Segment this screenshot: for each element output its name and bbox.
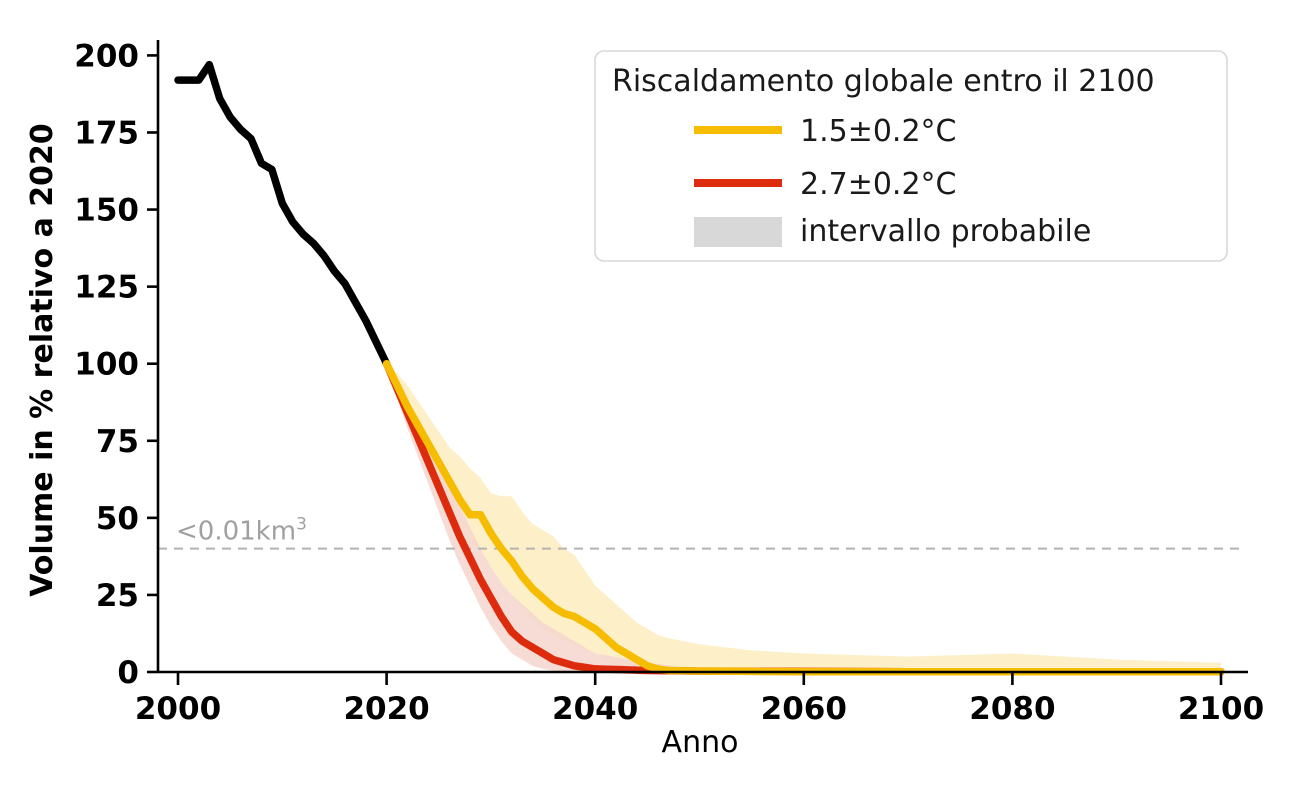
x-axis-title: Anno	[662, 725, 739, 760]
y-tick-label: 75	[96, 424, 139, 460]
legend-swatch-intervallo-probabile	[694, 217, 782, 247]
x-tick-label: 2100	[1178, 691, 1264, 727]
threshold-annotation-group: <0.01km3	[158, 515, 1240, 549]
legend-label-1p5-degrees: 1.5±0.2°C	[800, 114, 957, 149]
x-tick-label: 2040	[552, 691, 638, 727]
y-axis-ticks: 0255075100125150175200	[74, 38, 158, 691]
legend-label-intervallo-probabile: intervallo probabile	[800, 214, 1091, 249]
threshold-label: <0.01km3	[176, 515, 307, 547]
y-axis-title: Volume in % relativo a 2020	[25, 123, 60, 597]
y-tick-label: 200	[74, 38, 139, 74]
x-axis-ticks: 200020202040206020802100	[135, 672, 1264, 727]
x-tick-label: 2020	[343, 691, 429, 727]
x-tick-label: 2000	[135, 691, 221, 727]
y-tick-label: 100	[74, 347, 139, 383]
legend-title: Riscaldamento globale entro il 2100	[612, 64, 1155, 99]
y-tick-label: 0	[117, 655, 139, 691]
y-tick-label: 175	[74, 115, 139, 151]
chart-legend: Riscaldamento globale entro il 2100 1.5±…	[595, 51, 1227, 261]
x-tick-label: 2080	[969, 691, 1055, 727]
y-tick-label: 25	[96, 578, 139, 614]
y-tick-label: 150	[74, 193, 139, 229]
chart-figure: <0.01km3 0255075100125150175200 20002020…	[0, 0, 1300, 800]
x-tick-label: 2060	[761, 691, 847, 727]
y-tick-label: 50	[96, 501, 139, 537]
volume-projection-chart: <0.01km3 0255075100125150175200 20002020…	[0, 0, 1300, 800]
legend-label-2p7-degrees: 2.7±0.2°C	[800, 167, 957, 202]
y-tick-label: 125	[74, 270, 139, 306]
line-storico	[178, 65, 387, 364]
